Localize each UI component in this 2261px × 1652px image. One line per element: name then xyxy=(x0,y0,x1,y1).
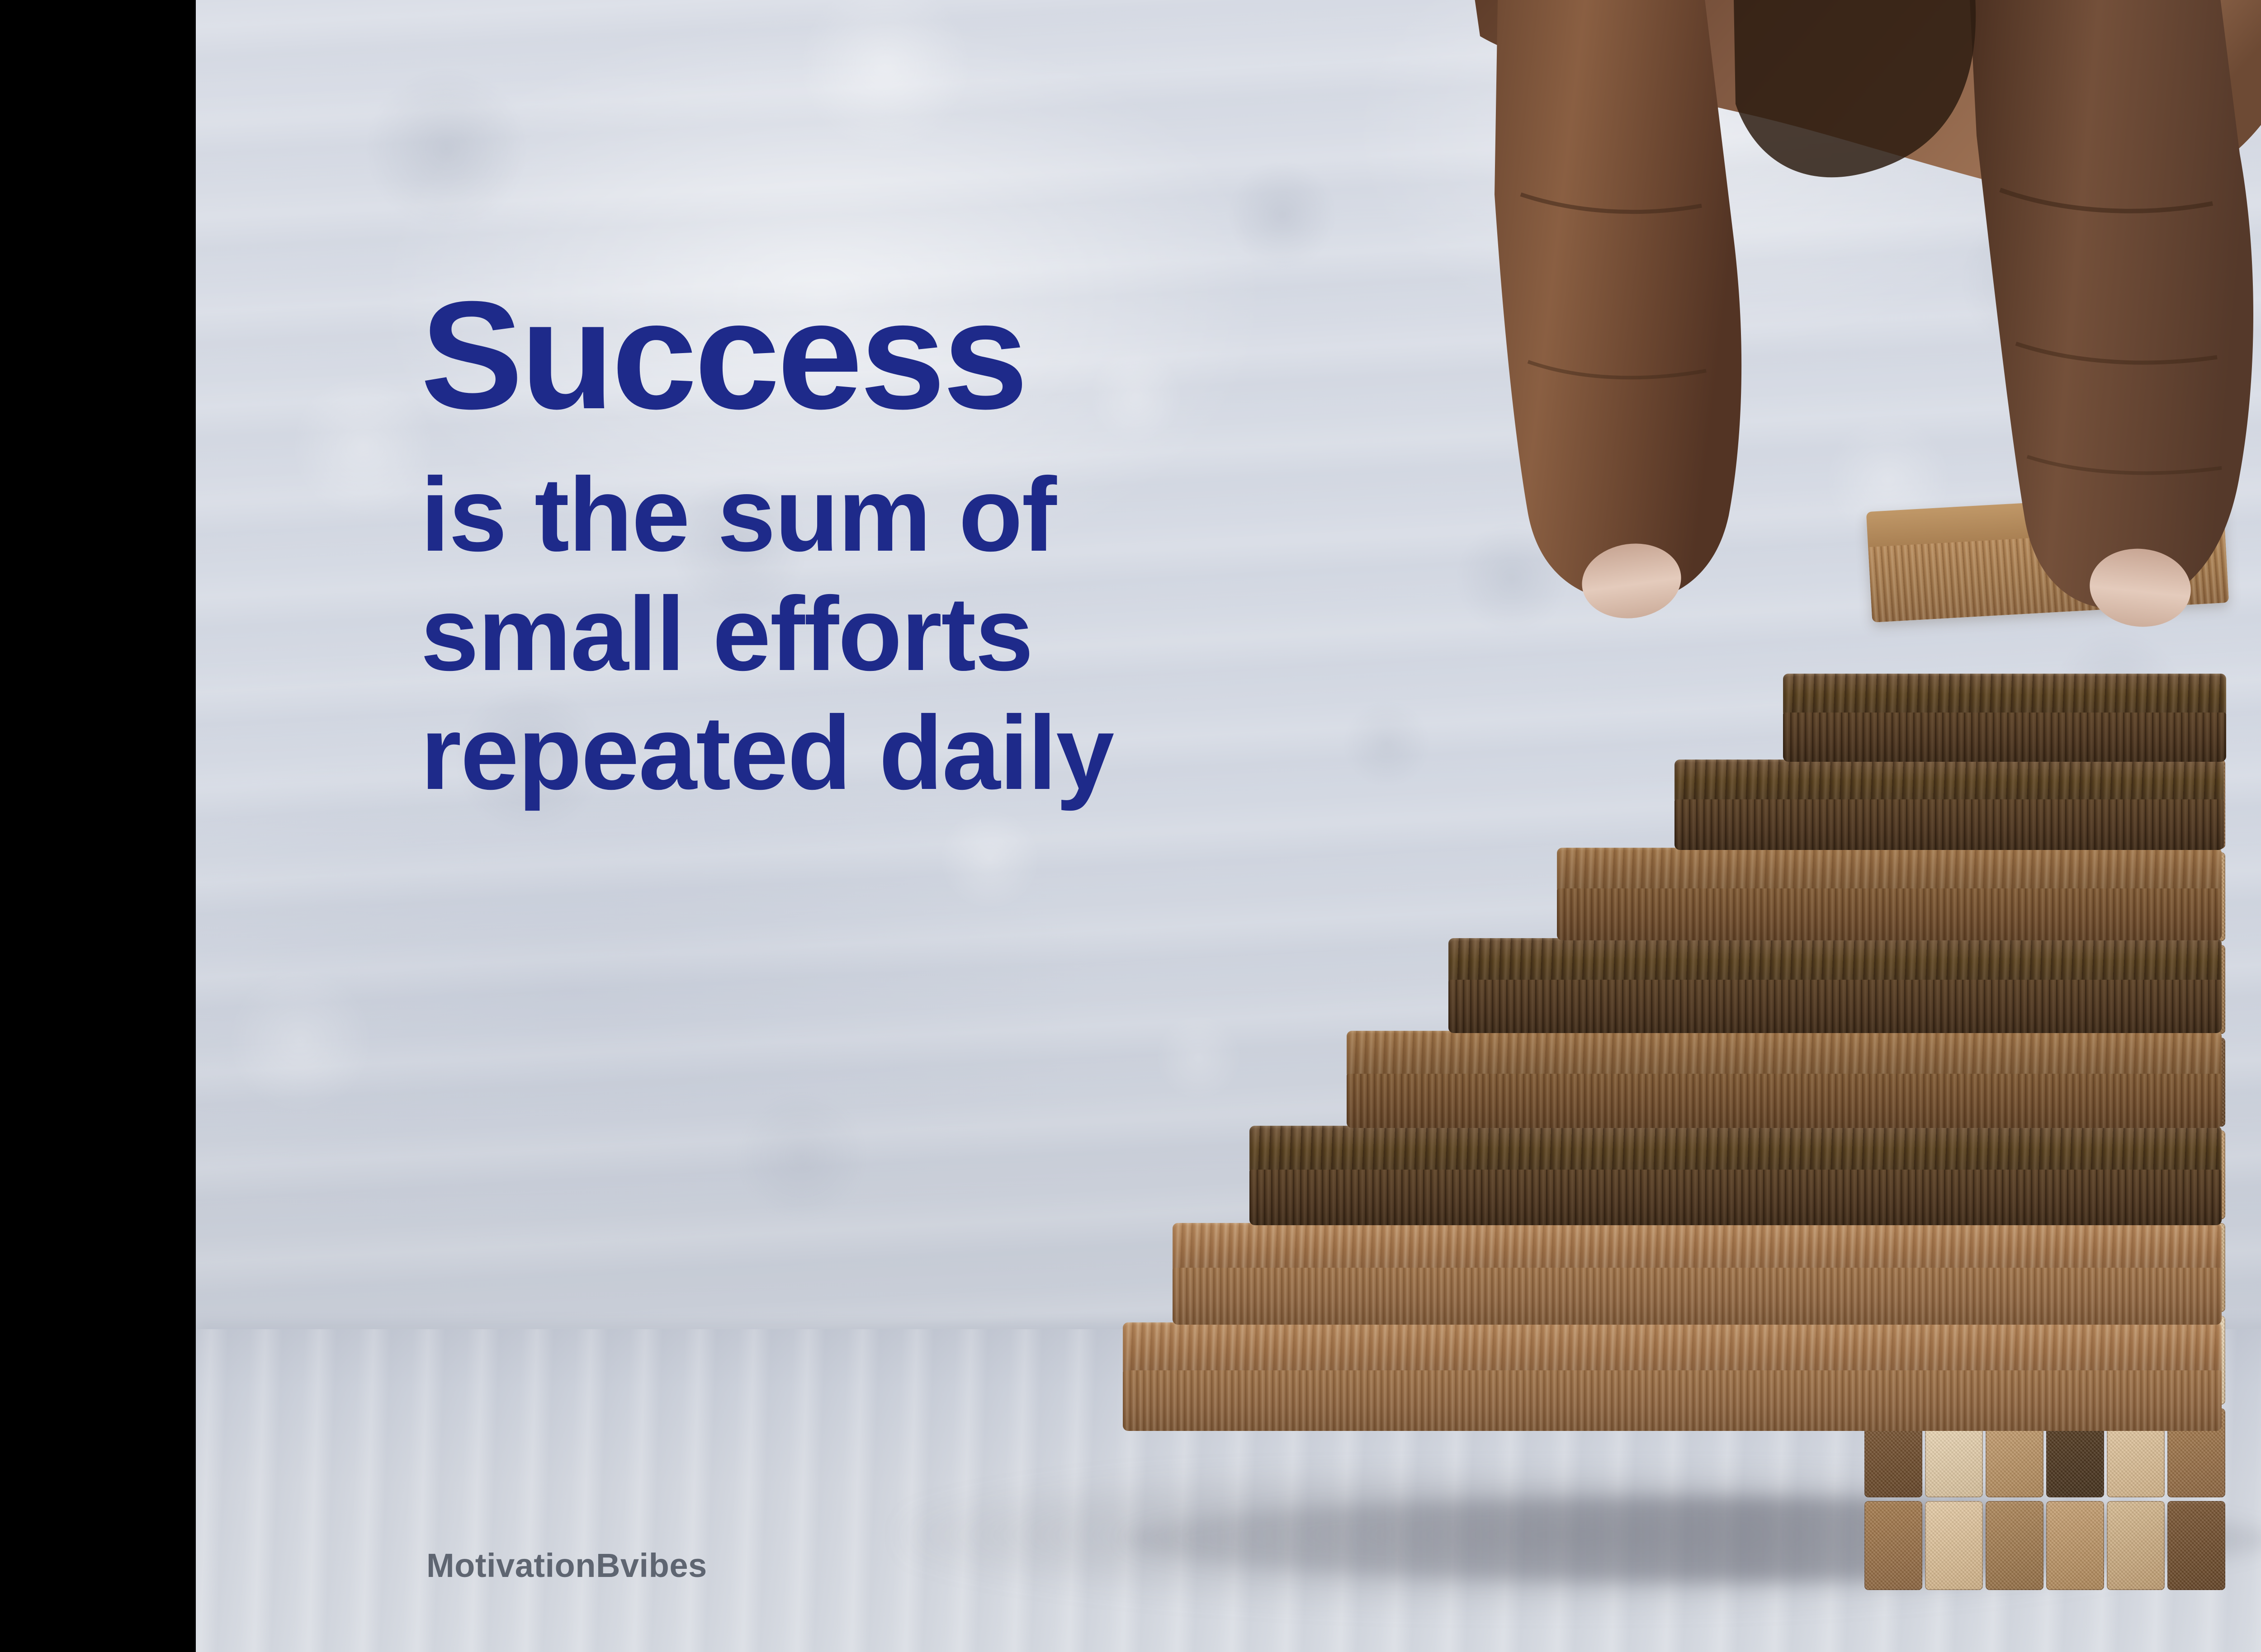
step-1-riser xyxy=(1783,713,2226,762)
step-3 xyxy=(1557,848,2222,940)
quote-line-2: is the sum of xyxy=(421,463,1113,566)
step-2-tread xyxy=(1674,760,2224,801)
quote-line-3: small efforts xyxy=(421,583,1113,685)
step-7 xyxy=(1173,1223,2222,1325)
watermark: MotivationBvibes xyxy=(426,1546,707,1585)
cube-block xyxy=(1986,1501,2043,1590)
screenshot-canvas: Success is the sum of small efforts repe… xyxy=(0,0,2261,1652)
step-5-tread xyxy=(1347,1031,2222,1076)
step-5 xyxy=(1347,1031,2222,1128)
step-2 xyxy=(1674,760,2224,850)
cube-block xyxy=(2046,1501,2104,1590)
index-finger xyxy=(1495,0,1741,602)
step-4-tread xyxy=(1448,938,2222,982)
quote-block: Success is the sum of small efforts repe… xyxy=(421,280,1113,804)
step-6-riser xyxy=(1249,1170,2222,1225)
step-1-tread xyxy=(1783,674,2226,714)
quote-line-1: Success xyxy=(421,280,1113,431)
step-4 xyxy=(1448,938,2222,1033)
step-7-riser xyxy=(1173,1268,2222,1325)
step-3-tread xyxy=(1557,848,2222,890)
letterbox-left xyxy=(0,0,196,1652)
step-3-riser xyxy=(1557,888,2222,940)
cube-block xyxy=(1864,1501,1922,1590)
step-6-tread xyxy=(1249,1126,2222,1171)
cube-block xyxy=(1925,1501,1983,1590)
thumb-finger xyxy=(1968,0,2253,609)
step-5-riser xyxy=(1347,1074,2222,1128)
cube-block xyxy=(2107,1501,2165,1590)
step-1 xyxy=(1783,674,2226,762)
step-6 xyxy=(1249,1126,2222,1225)
step-8 xyxy=(1123,1322,2222,1431)
quote-line-4: repeated daily xyxy=(421,702,1113,804)
cube-block xyxy=(2167,1501,2225,1590)
step-8-tread xyxy=(1123,1322,2222,1372)
step-8-riser xyxy=(1123,1370,2222,1431)
step-2-riser xyxy=(1674,799,2224,850)
photo-plate: Success is the sum of small efforts repe… xyxy=(196,0,2261,1652)
step-4-riser xyxy=(1448,980,2222,1033)
step-7-tread xyxy=(1173,1223,2222,1270)
